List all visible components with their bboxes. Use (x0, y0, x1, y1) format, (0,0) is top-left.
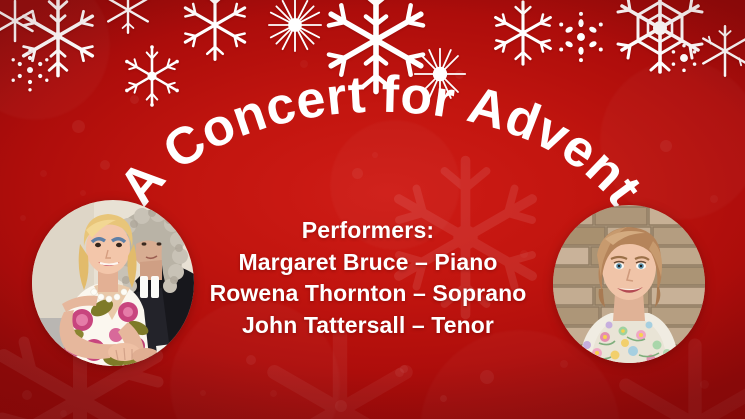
photo-performer-soloist (553, 205, 705, 363)
advent-concert-poster: A Concert for Advent (0, 0, 745, 419)
poster-title-text: A Concert for Advent (120, 66, 640, 216)
performers-heading: Performers: (198, 215, 538, 247)
poster-title: A Concert for Advent (120, 52, 640, 237)
performers-block: Performers: Margaret Bruce – Piano Rowen… (198, 215, 538, 342)
performer-line-piano: Margaret Bruce – Piano (198, 247, 538, 279)
performer-line-tenor: John Tattersall – Tenor (198, 310, 538, 342)
photo-performer-couple (32, 200, 194, 366)
performer-line-soprano: Rowena Thornton – Soprano (198, 278, 538, 310)
svg-text:A Concert for Advent: A Concert for Advent (120, 66, 640, 216)
